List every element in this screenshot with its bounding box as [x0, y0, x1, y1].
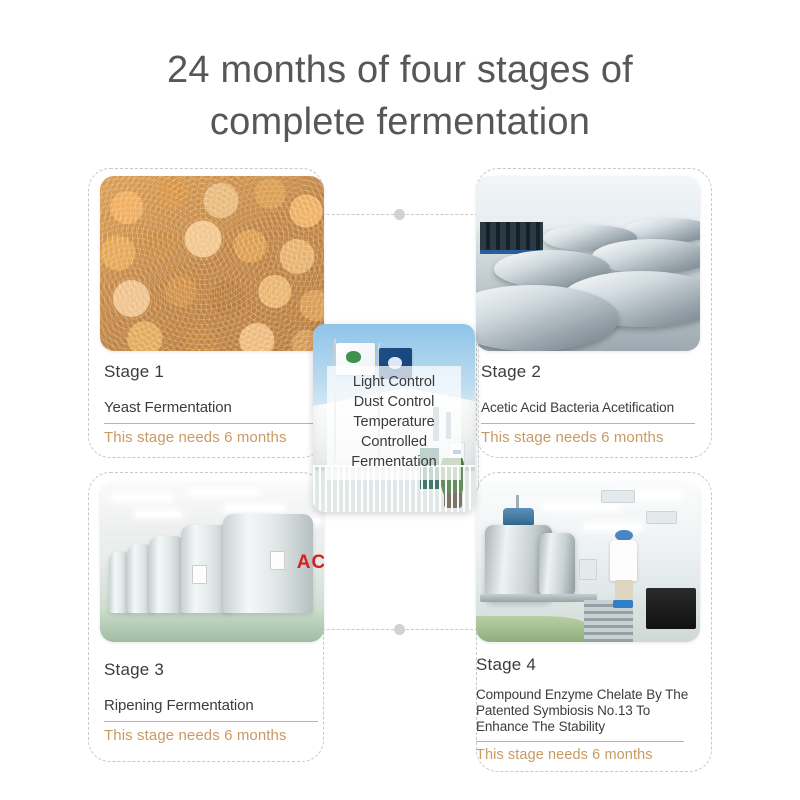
center-panel[interactable]: Light Control Dust Control Temperature C…: [313, 324, 475, 512]
connector-dot-bottom: [394, 624, 405, 635]
stage-1-rule: [104, 423, 318, 424]
connector-dot-top: [394, 209, 405, 220]
stage-2-label: Stage 2: [481, 362, 721, 382]
stage-2-photo: [476, 176, 700, 351]
stage-4-description: Compound Enzyme Chelate By The Patented …: [476, 687, 698, 735]
stage-3-description: Ripening Fermentation: [104, 697, 344, 715]
stage-2-duration: This stage needs 6 months: [481, 429, 721, 446]
stage-4-text: Stage 4 Compound Enzyme Chelate By The P…: [476, 655, 716, 763]
stage-3-text: Stage 3 Ripening Fermentation This stage…: [104, 660, 344, 744]
stage-3-rule: [104, 721, 318, 722]
stage-3-duration: This stage needs 6 months: [104, 727, 344, 744]
stage-3-photo: AC: [100, 482, 324, 642]
stage-1-label: Stage 1: [104, 362, 344, 382]
stage-1-description: Yeast Fermentation: [104, 399, 344, 417]
stage-3-label: Stage 3: [104, 660, 344, 680]
stage-4-label: Stage 4: [476, 655, 716, 675]
stage-1-text: Stage 1 Yeast Fermentation This stage ne…: [104, 362, 344, 446]
stage-grid: Stage 1 Yeast Fermentation This stage ne…: [0, 0, 800, 800]
stage-1-duration: This stage needs 6 months: [104, 429, 344, 446]
tank-label-text: AC: [297, 552, 324, 574]
stage-2-description: Acetic Acid Bacteria Acetification: [481, 399, 721, 417]
stage-4-photo: [476, 482, 700, 642]
stage-2-text: Stage 2 Acetic Acid Bacteria Acetificati…: [481, 362, 721, 446]
stage-4-rule: [476, 741, 684, 742]
center-panel-overlay-text: Light Control Dust Control Temperature C…: [327, 366, 461, 480]
stage-4-duration: This stage needs 6 months: [476, 747, 716, 763]
stage-1-photo: [100, 176, 324, 351]
stage-2-rule: [481, 423, 695, 424]
